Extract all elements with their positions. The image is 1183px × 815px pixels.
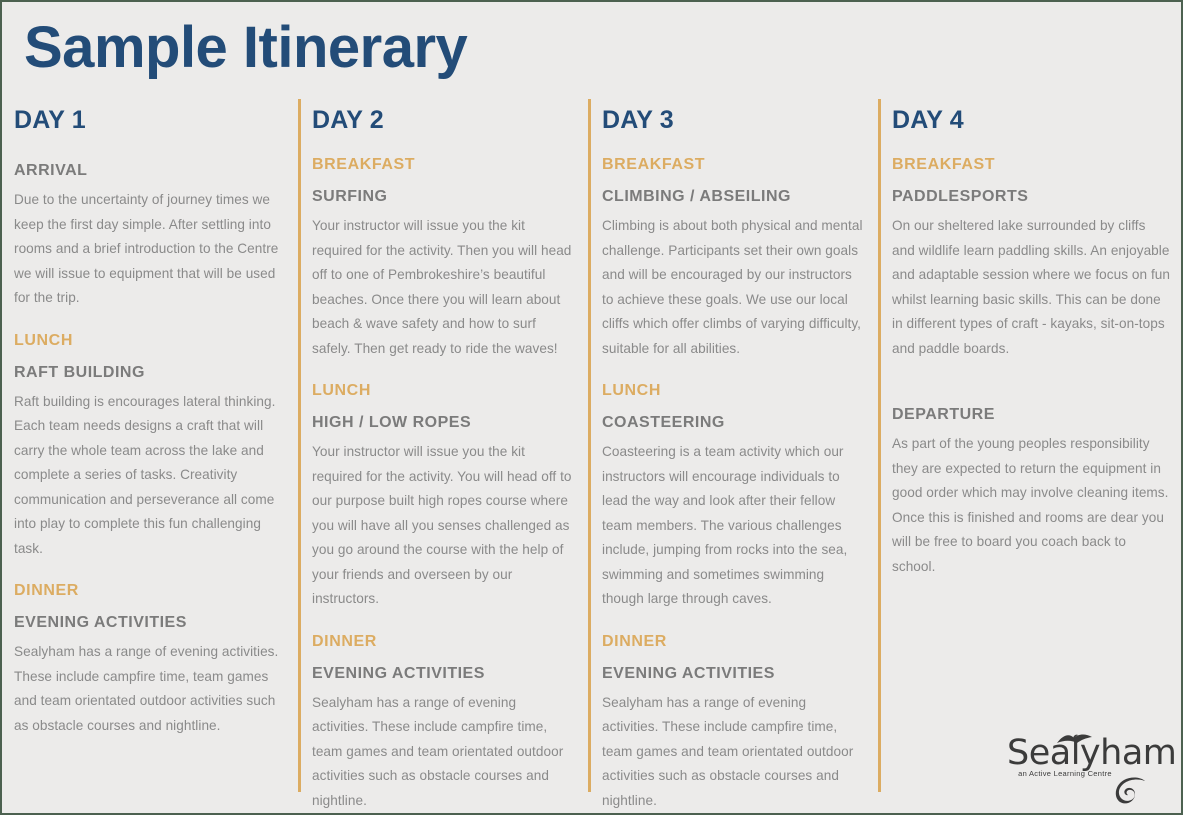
logo-tagline: an Active Learning Centre — [1007, 769, 1123, 779]
block-2-3: DINNER EVENING ACTIVITIES Sealyham has a… — [312, 632, 574, 814]
day-heading-1: DAY 1 — [14, 105, 284, 135]
day-column-1: DAY 1 ARRIVAL Due to the uncertainty of … — [2, 99, 298, 799]
activity-title-3-1: CLIMBING / ABSEILING — [602, 187, 864, 207]
activity-title-4-1: PADDLESPORTS — [892, 187, 1171, 207]
activity-text-4-2: As part of the young peoples responsibil… — [892, 432, 1171, 579]
meal-label-1-3: DINNER — [14, 581, 284, 601]
day-columns: DAY 1 ARRIVAL Due to the uncertainty of … — [2, 99, 1183, 799]
activity-text-2-3: Sealyham has a range of evening activiti… — [312, 691, 574, 814]
meal-label-3-2: LUNCH — [602, 381, 864, 401]
block-3-2: LUNCH COASTEERING Coasteering is a team … — [602, 381, 864, 612]
meal-label-2-2: LUNCH — [312, 381, 574, 401]
sealyham-logo: Sealyham an Active Learning Centre — [1007, 735, 1167, 801]
activity-text-1-1: Due to the uncertainty of journey times … — [14, 188, 284, 311]
activity-text-4-1: On our sheltered lake surrounded by clif… — [892, 214, 1171, 361]
activity-text-3-3: Sealyham has a range of evening activiti… — [602, 691, 864, 814]
page-title: Sample Itinerary — [24, 16, 467, 80]
activity-title-1-2: RAFT BUILDING — [14, 363, 284, 383]
day-column-4: DAY 4 BREAKFAST PADDLESPORTS On our shel… — [878, 99, 1183, 799]
block-4-2: DEPARTURE As part of the young peoples r… — [892, 405, 1171, 579]
activity-text-3-1: Climbing is about both physical and ment… — [602, 214, 864, 361]
activity-text-2-2: Your instructor will issue you the kit r… — [312, 440, 574, 612]
activity-title-1-3: EVENING ACTIVITIES — [14, 613, 284, 633]
activity-title-2-3: EVENING ACTIVITIES — [312, 664, 574, 684]
day-heading-2: DAY 2 — [312, 105, 574, 135]
activity-text-2-1: Your instructor will issue you the kit r… — [312, 214, 574, 361]
activity-title-2-1: SURFING — [312, 187, 574, 207]
meal-label-2-1: BREAKFAST — [312, 155, 574, 175]
meal-label-2-3: DINNER — [312, 632, 574, 652]
meal-label-3-1: BREAKFAST — [602, 155, 864, 175]
activity-title-2-2: HIGH / LOW ROPES — [312, 413, 574, 433]
day-heading-4: DAY 4 — [892, 105, 1171, 135]
block-4-1: BREAKFAST PADDLESPORTS On our sheltered … — [892, 155, 1171, 361]
meal-label-1-2: LUNCH — [14, 331, 284, 351]
block-2-1: BREAKFAST SURFING Your instructor will i… — [312, 155, 574, 361]
day-column-3: DAY 3 BREAKFAST CLIMBING / ABSEILING Cli… — [588, 99, 878, 799]
block-3-1: BREAKFAST CLIMBING / ABSEILING Climbing … — [602, 155, 864, 361]
activity-title-1-1: ARRIVAL — [14, 161, 284, 181]
block-1-1: ARRIVAL Due to the uncertainty of journe… — [14, 161, 284, 311]
activity-title-3-2: COASTEERING — [602, 413, 864, 433]
activity-text-3-2: Coasteering is a team activity which our… — [602, 440, 864, 612]
block-1-2: LUNCH RAFT BUILDING Raft building is enc… — [14, 331, 284, 562]
activity-title-4-2: DEPARTURE — [892, 405, 1171, 425]
activity-title-3-3: EVENING ACTIVITIES — [602, 664, 864, 684]
meal-label-3-3: DINNER — [602, 632, 864, 652]
bird-icon — [1055, 731, 1095, 749]
day-heading-3: DAY 3 — [602, 105, 864, 135]
activity-text-1-3: Sealyham has a range of evening activiti… — [14, 640, 284, 738]
meal-label-4-1: BREAKFAST — [892, 155, 1171, 175]
day-column-2: DAY 2 BREAKFAST SURFING Your instructor … — [298, 99, 588, 799]
swirl-icon — [1115, 777, 1149, 807]
activity-text-1-2: Raft building is encourages lateral thin… — [14, 390, 284, 562]
block-3-3: DINNER EVENING ACTIVITIES Sealyham has a… — [602, 632, 864, 814]
itinerary-page: Sample Itinerary DAY 1 ARRIVAL Due to th… — [0, 0, 1183, 815]
block-2-2: LUNCH HIGH / LOW ROPES Your instructor w… — [312, 381, 574, 612]
block-1-3: DINNER EVENING ACTIVITIES Sealyham has a… — [14, 581, 284, 738]
